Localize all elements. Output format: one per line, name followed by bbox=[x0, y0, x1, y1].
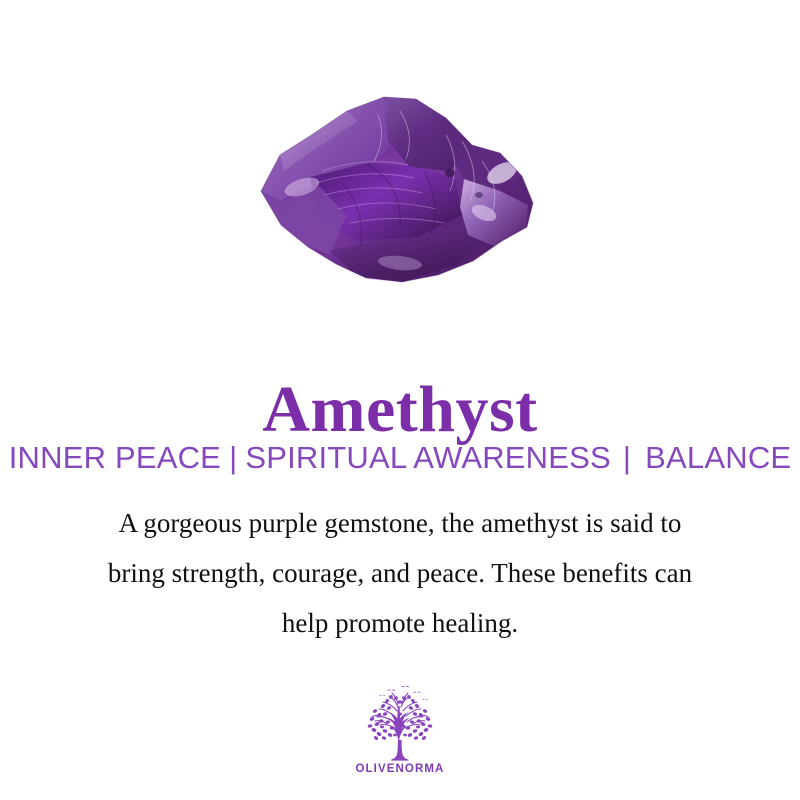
amethyst-product-card: Amethyst INNER PEACE|SPIRITUAL AWARENESS… bbox=[0, 0, 800, 800]
keyword-balance: BALANCE bbox=[645, 440, 791, 475]
brand-logo: OLIVENORMA bbox=[0, 684, 800, 775]
description-line: A gorgeous purple gemstone, the amethyst… bbox=[50, 498, 750, 548]
page-title: Amethyst bbox=[0, 377, 800, 443]
tree-of-life-icon bbox=[357, 684, 443, 762]
amethyst-stone-icon bbox=[250, 75, 550, 290]
amethyst-stone-image bbox=[250, 75, 550, 290]
keyword-spiritual-awareness: SPIRITUAL AWARENESS bbox=[245, 440, 611, 475]
keyword-separator: | bbox=[221, 441, 245, 475]
description-line: help promote healing. bbox=[50, 598, 750, 648]
product-image-area bbox=[0, 62, 800, 302]
keyword-inner-peace: INNER PEACE bbox=[9, 440, 221, 475]
keyword-separator: | bbox=[611, 441, 645, 475]
brand-name: OLIVENORMA bbox=[356, 763, 445, 775]
keyword-list: INNER PEACE|SPIRITUAL AWARENESS|BALANCE bbox=[0, 441, 800, 475]
description-line: bring strength, courage, and peace. Thes… bbox=[50, 548, 750, 598]
product-description: A gorgeous purple gemstone, the amethyst… bbox=[50, 498, 750, 648]
